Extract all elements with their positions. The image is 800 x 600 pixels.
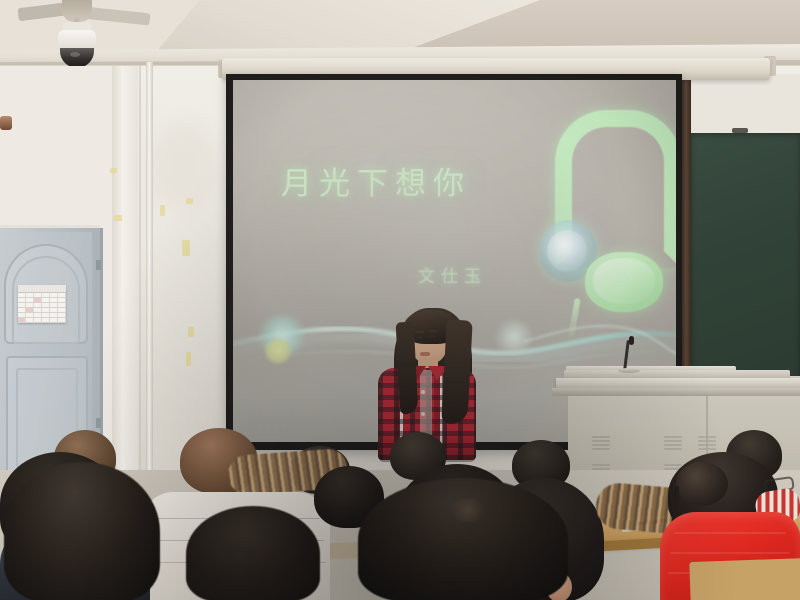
wall-conduit-pipe [146, 62, 153, 486]
presenter-hair-right [441, 319, 472, 424]
wall-fixture [0, 116, 12, 130]
wall-seam [139, 66, 141, 486]
wall-tape-mark [188, 327, 194, 337]
podium-lip [552, 388, 800, 396]
wall-tape-mark [186, 352, 191, 366]
chalkboard [691, 133, 800, 381]
presenter-eye-right [429, 335, 436, 338]
wall-tape-mark [182, 240, 190, 256]
wall-stain [150, 120, 220, 210]
microphone-base [618, 368, 640, 373]
hair-bun [676, 462, 728, 506]
wall-tape-mark [114, 215, 122, 221]
classroom-photo: 月光下想你 文仕玉 [0, 0, 800, 600]
wall-tape-mark [186, 198, 193, 204]
door-hinge [96, 260, 101, 270]
list-item [186, 506, 320, 600]
class-schedule-notice [18, 285, 66, 323]
chair-back [689, 558, 800, 600]
presenter-brow-left [415, 331, 424, 333]
notice-row [18, 318, 66, 323]
hair-crown-highlight [448, 498, 488, 522]
wall-column [112, 66, 138, 486]
wall-tape-mark [110, 168, 117, 173]
chalkboard-clip [732, 128, 748, 133]
wall-tape-mark [160, 205, 165, 216]
dome-camera-glint [70, 52, 80, 57]
presenter-brow-right [428, 330, 437, 332]
student-front-center [358, 478, 568, 600]
student-front-left [4, 462, 160, 600]
presenter-eye-left [416, 336, 423, 339]
microphone-icon [629, 336, 634, 345]
door-hinge [96, 418, 101, 428]
presenter-mouth [420, 352, 430, 356]
notice-header [18, 285, 66, 293]
